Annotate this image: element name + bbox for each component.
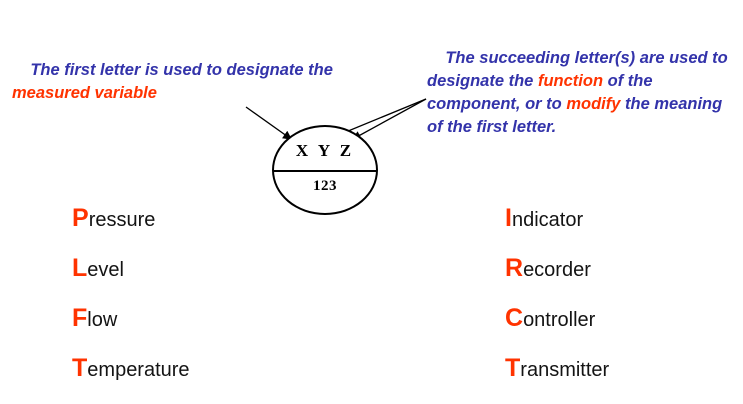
term-initial: T — [505, 354, 520, 382]
instrument-balloon: X Y Z 123 — [272, 125, 378, 215]
term-initial: F — [72, 304, 87, 332]
succeeding-letters-annotation: The succeeding letter(s) are used to des… — [427, 24, 735, 162]
term-rest: ressure — [89, 209, 156, 231]
first-letter-annotation: The first letter is used to designate th… — [12, 36, 372, 128]
term-rest: ndicator — [512, 209, 583, 231]
term-rest: low — [87, 309, 117, 331]
term-initial: R — [505, 254, 523, 282]
balloon-tag-letters: X Y Z — [272, 141, 378, 161]
succeeding-letters-emphasis-modify: modify — [566, 95, 620, 113]
list-item: Recorder — [505, 254, 609, 304]
term-rest: evel — [87, 259, 124, 281]
slide-canvas: The first letter is used to designate th… — [0, 0, 743, 400]
measured-variable-list: Pressure Level Flow Temperature — [72, 204, 190, 404]
list-item: Temperature — [72, 354, 190, 404]
term-initial: T — [72, 354, 87, 382]
term-initial: C — [505, 304, 523, 332]
list-item: Transmitter — [505, 354, 609, 404]
term-initial: P — [72, 204, 89, 232]
list-item: Pressure — [72, 204, 190, 254]
balloon-divider-line — [273, 170, 377, 172]
term-rest: ecorder — [523, 259, 591, 281]
term-rest: ransmitter — [520, 359, 609, 381]
function-letter-list: Indicator Recorder Controller Transmitte… — [505, 204, 609, 404]
term-initial: L — [72, 254, 87, 282]
first-letter-annotation-emphasis: measured variable — [12, 84, 157, 102]
term-rest: emperature — [87, 359, 189, 381]
list-item: Indicator — [505, 204, 609, 254]
list-item: Flow — [72, 304, 190, 354]
list-item: Level — [72, 254, 190, 304]
term-initial: I — [505, 204, 512, 232]
list-item: Controller — [505, 304, 609, 354]
first-letter-annotation-lead: The first letter is used to designate th… — [30, 61, 337, 79]
succeeding-letters-emphasis-function: function — [538, 72, 603, 90]
balloon-loop-number: 123 — [272, 178, 378, 195]
term-rest: ontroller — [523, 309, 595, 331]
